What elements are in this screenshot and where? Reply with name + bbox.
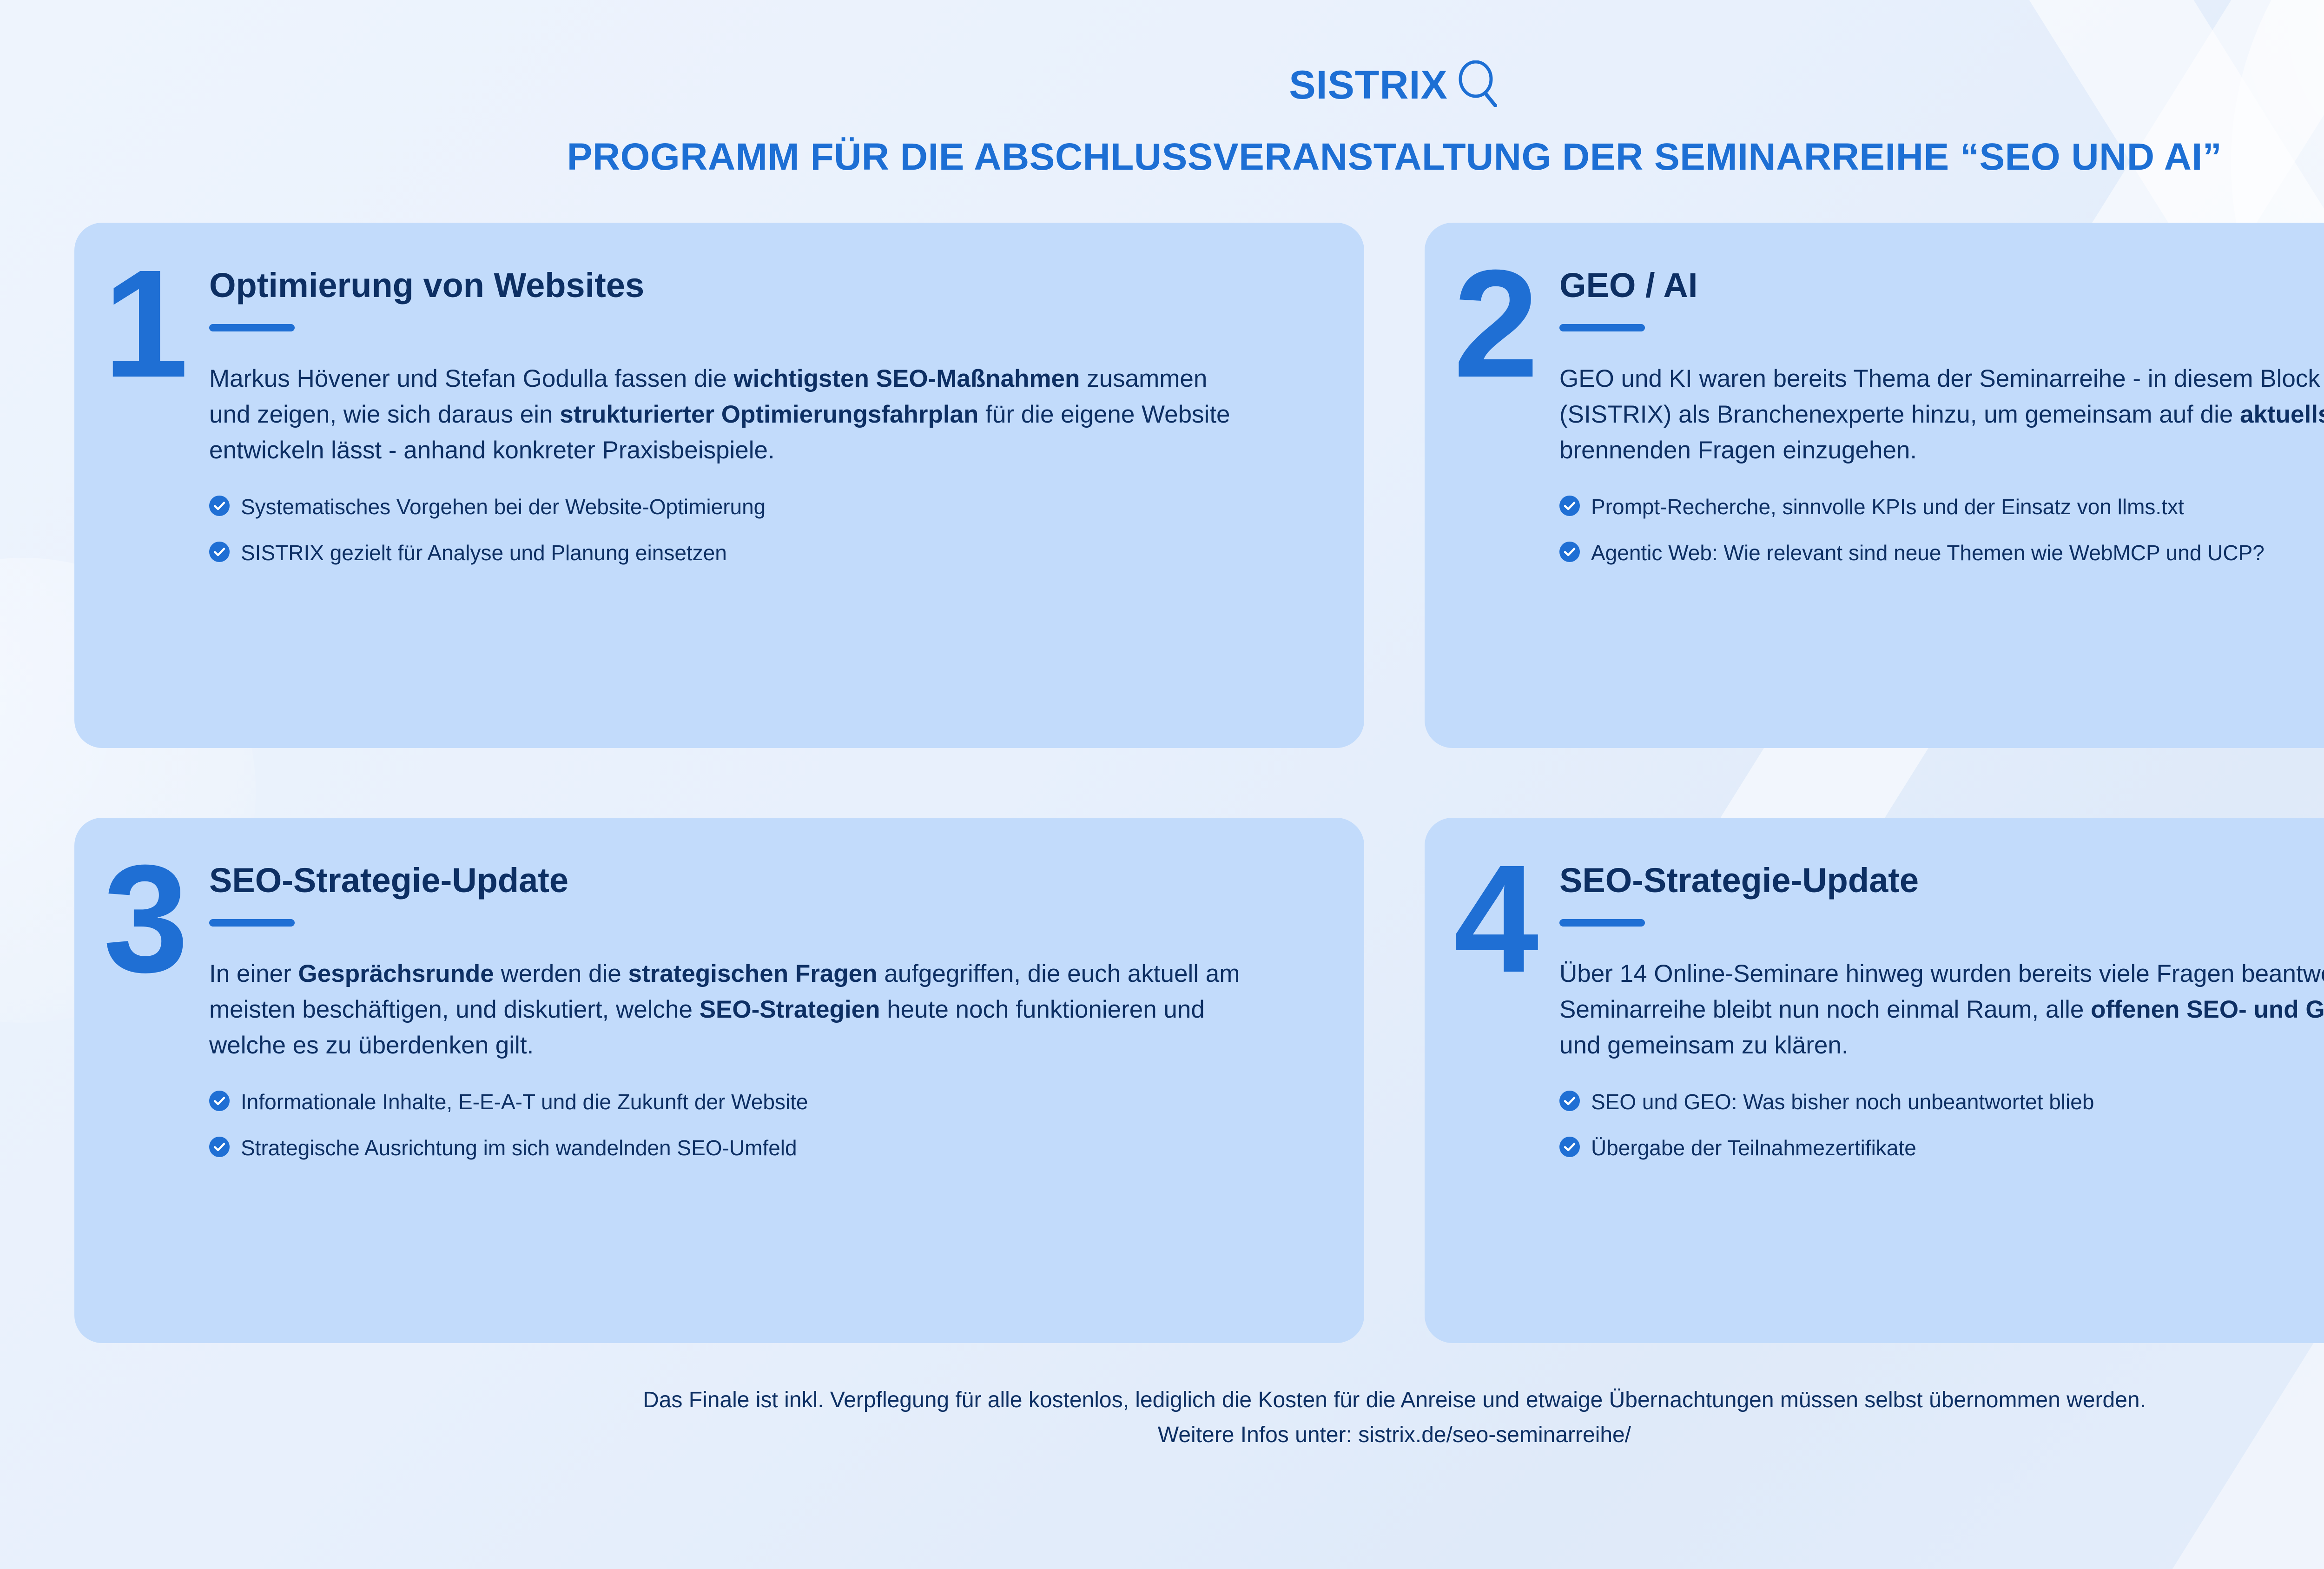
footer-link[interactable]: Weitere Infos unter: sistrix.de/seo-semi…: [0, 1418, 2324, 1452]
program-card: 2 GEO / AI GEO und KI waren bereits Them…: [1425, 223, 2324, 748]
card-description: Über 14 Online-Seminare hinweg wurden be…: [1559, 956, 2324, 1064]
card-title: SEO-Strategie-Update: [1559, 862, 2324, 899]
list-item-label: Informationale Inhalte, E-E-A-T und die …: [241, 1087, 808, 1116]
program-card: 3 SEO-Strategie-Update In einer Gespräch…: [74, 818, 1364, 1343]
poster-footer: Das Finale ist inkl. Verpflegung für all…: [0, 1383, 2324, 1452]
check-circle-icon: [1559, 1135, 1580, 1164]
card-description: In einer Gesprächsrunde werden die strat…: [209, 956, 1250, 1064]
brand-wordmark: SISTRIX: [1289, 65, 1448, 105]
card-number: 1: [103, 264, 184, 383]
card-divider: [209, 324, 295, 331]
card-body: SEO-Strategie-Update In einer Gesprächsr…: [209, 862, 1322, 1164]
list-item: SISTRIX gezielt für Analyse und Planung …: [209, 538, 1322, 569]
card-title: GEO / AI: [1559, 267, 2324, 304]
list-item-label: SISTRIX gezielt für Analyse und Planung …: [241, 538, 727, 567]
list-item-label: Übergabe der Teilnahmezertifikate: [1591, 1133, 1916, 1162]
program-cards-grid: 1 Optimierung von Websites Markus Hövene…: [74, 223, 2324, 1343]
page-title: PROGRAMM FÜR DIE ABSCHLUSSVERANSTALTUNG …: [0, 136, 2324, 178]
list-item-label: SEO und GEO: Was bisher noch unbeantwort…: [1591, 1087, 2094, 1116]
card-checklist: Prompt-Recherche, sinnvolle KPIs und der…: [1559, 492, 2324, 569]
list-item: Systematisches Vorgehen bei der Website-…: [209, 492, 1322, 523]
check-circle-icon: [1559, 540, 1580, 569]
program-card: 1 Optimierung von Websites Markus Hövene…: [74, 223, 1364, 748]
card-title: Optimierung von Websites: [209, 267, 1322, 304]
card-divider: [209, 919, 295, 927]
list-item: Prompt-Recherche, sinnvolle KPIs und der…: [1559, 492, 2324, 523]
card-checklist: Informationale Inhalte, E-E-A-T und die …: [209, 1087, 1322, 1164]
list-item-label: Prompt-Recherche, sinnvolle KPIs und der…: [1591, 492, 2184, 521]
poster-root: SISTRIX PROGRAMM FÜR DIE ABSCHLUSSVERANS…: [0, 0, 2324, 1569]
list-item-label: Systematisches Vorgehen bei der Website-…: [241, 492, 766, 521]
program-card: 4 SEO-Strategie-Update Über 14 Online-Se…: [1425, 818, 2324, 1343]
card-body: SEO-Strategie-Update Über 14 Online-Semi…: [1559, 862, 2324, 1164]
footer-note: Das Finale ist inkl. Verpflegung für all…: [0, 1383, 2324, 1417]
card-description: GEO und KI waren bereits Thema der Semin…: [1559, 361, 2324, 469]
check-circle-icon: [1559, 494, 1580, 523]
card-divider: [1559, 324, 1645, 331]
list-item: SEO und GEO: Was bisher noch unbeantwort…: [1559, 1087, 2324, 1118]
poster-header: SISTRIX PROGRAMM FÜR DIE ABSCHLUSSVERANS…: [0, 0, 2324, 178]
card-number: 3: [103, 859, 184, 978]
check-circle-icon: [209, 494, 230, 523]
card-description: Markus Hövener und Stefan Godulla fassen…: [209, 361, 1250, 469]
card-body: Optimierung von Websites Markus Hövener …: [209, 267, 1322, 569]
list-item: Agentic Web: Wie relevant sind neue Them…: [1559, 538, 2324, 569]
check-circle-icon: [209, 1089, 230, 1118]
card-title: SEO-Strategie-Update: [209, 862, 1322, 899]
list-item-label: Strategische Ausrichtung im sich wandeln…: [241, 1133, 797, 1162]
card-checklist: SEO und GEO: Was bisher noch unbeantwort…: [1559, 1087, 2324, 1164]
card-number: 2: [1453, 264, 1534, 383]
card-divider: [1559, 919, 1645, 927]
check-circle-icon: [209, 1135, 230, 1164]
list-item: Übergabe der Teilnahmezertifikate: [1559, 1133, 2324, 1164]
list-item-label: Agentic Web: Wie relevant sind neue Them…: [1591, 538, 2265, 567]
list-item: Informationale Inhalte, E-E-A-T und die …: [209, 1087, 1322, 1118]
card-checklist: Systematisches Vorgehen bei der Website-…: [209, 492, 1322, 569]
card-body: GEO / AI GEO und KI waren bereits Thema …: [1559, 267, 2324, 569]
card-number: 4: [1453, 859, 1534, 978]
check-circle-icon: [209, 540, 230, 569]
check-circle-icon: [1559, 1089, 1580, 1118]
brand-logo: SISTRIX: [1289, 60, 1500, 109]
list-item: Strategische Ausrichtung im sich wandeln…: [209, 1133, 1322, 1164]
magnifier-icon: [1455, 60, 1500, 109]
